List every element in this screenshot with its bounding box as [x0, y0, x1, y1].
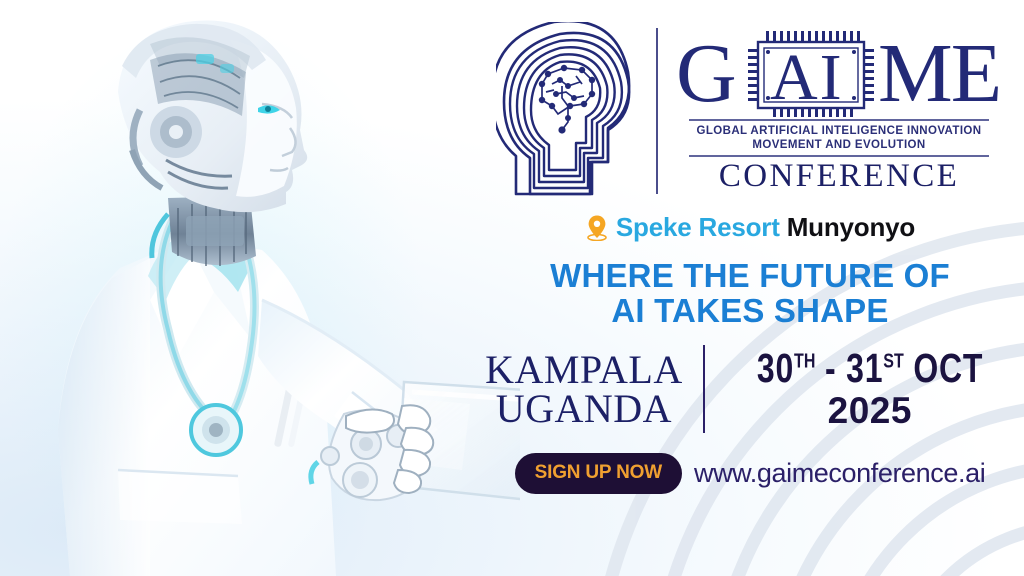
- logo-tagline: GLOBAL ARTIFICIAL INTELIGENCE INNOVATION…: [697, 121, 982, 155]
- content-column: G AI ME GLOBAL ARTIFICIAL INTELIGENCE IN…: [476, 0, 1024, 576]
- robot-illustration: [0, 0, 520, 576]
- headline-line-2: AI TAKES SHAPE: [550, 294, 950, 329]
- date-day-start-ordinal: TH: [794, 350, 815, 373]
- location-country: UGANDA: [485, 389, 683, 428]
- location-block: KAMPALA UGANDA: [485, 350, 683, 428]
- venue-name-primary: Speke Resort: [616, 212, 780, 243]
- date-block: 30TH - 31ST OCT 2025: [725, 345, 1015, 432]
- tagline-rule-top: [689, 119, 989, 121]
- head-profile-circuit-brain-icon: [496, 22, 646, 200]
- date-day-start: 30: [757, 345, 794, 391]
- website-url[interactable]: www.gaimeconference.ai: [694, 458, 985, 489]
- map-pin-icon: [585, 214, 609, 241]
- tagline-line-1: GLOBAL ARTIFICIAL INTELIGENCE INNOVATION: [697, 124, 982, 138]
- date-day-end-ordinal: ST: [883, 350, 903, 373]
- date-day-end: 31: [846, 345, 883, 391]
- venue-name-secondary: Munyonyo: [787, 212, 915, 243]
- sign-up-now-button[interactable]: SIGN UP NOW: [515, 453, 682, 494]
- date-month: OCT: [913, 345, 983, 391]
- location-city: KAMPALA: [485, 350, 683, 389]
- logo-typography: G AI ME GLOBAL ARTIFICIAL INTELIGENCE IN…: [674, 27, 1004, 195]
- headline-line-1: WHERE THE FUTURE OF: [550, 259, 950, 294]
- conference-label: CONFERENCE: [719, 157, 959, 195]
- location-date-divider: [703, 345, 705, 433]
- date-year: 2025: [725, 390, 1015, 432]
- svg-text:ME: ME: [878, 27, 1000, 119]
- venue-line: Speke Resort Munyonyo: [585, 212, 915, 243]
- gaime-wordmark: G AI ME: [674, 27, 1004, 119]
- location-date-row: KAMPALA UGANDA 30TH - 31ST OCT 2025: [485, 345, 1015, 433]
- svg-text:G: G: [676, 27, 737, 119]
- cta-row: SIGN UP NOW www.gaimeconference.ai: [515, 453, 986, 494]
- banner-canvas: G AI ME GLOBAL ARTIFICIAL INTELIGENCE IN…: [0, 0, 1024, 576]
- tagline-line-2: MOVEMENT AND EVOLUTION: [697, 138, 982, 152]
- logo-divider: [656, 28, 658, 194]
- date-separator: -: [825, 345, 836, 391]
- tagline-rule-bottom: [689, 155, 989, 157]
- logo-lockup: G AI ME GLOBAL ARTIFICIAL INTELIGENCE IN…: [496, 22, 1004, 200]
- date-range: 30TH - 31ST OCT: [757, 345, 983, 392]
- svg-text:AI: AI: [770, 41, 844, 114]
- headline: WHERE THE FUTURE OF AI TAKES SHAPE: [550, 259, 950, 329]
